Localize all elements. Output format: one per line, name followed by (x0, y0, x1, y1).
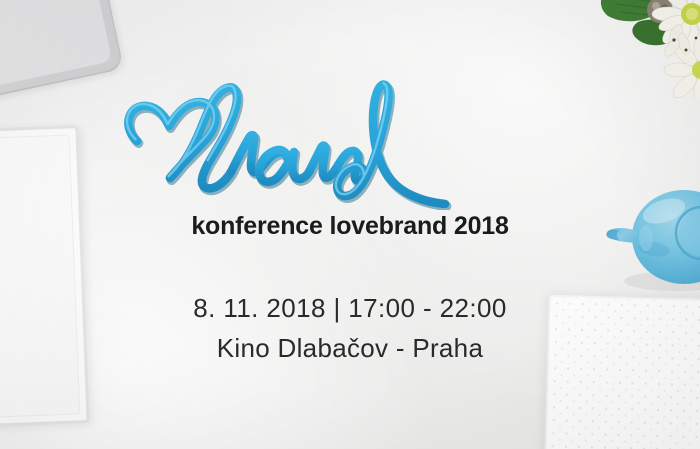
poster-image: konference lovebrand 2018 8. 11. 2018 | … (0, 0, 700, 449)
tagline: konference lovebrand 2018 (191, 212, 508, 241)
event-venue: Kino Dlabačov - Praha (217, 333, 483, 364)
event-datetime: 8. 11. 2018 | 17:00 - 22:00 (193, 293, 506, 324)
lovebrand-logo (115, 74, 585, 210)
